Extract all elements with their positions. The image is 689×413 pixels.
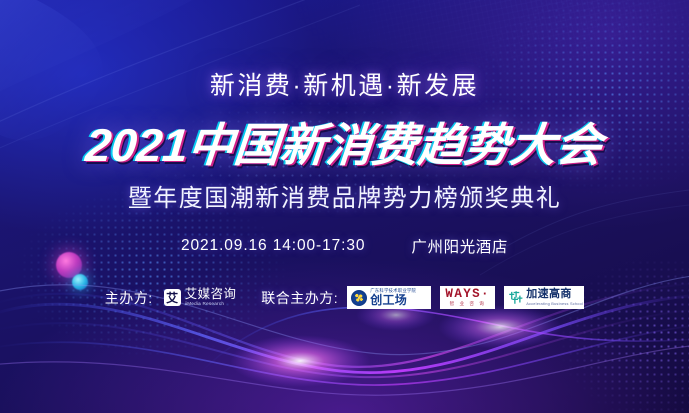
iimedia-text: 艾媒咨询 iiMedia Research	[185, 288, 237, 307]
jiasugaoshang-name-cn: 加速高商	[526, 289, 583, 300]
event-poster: 新消费·新机遇·新发展 2021中国新消费趋势大会 暨年度国潮新消费品牌势力榜颁…	[0, 0, 689, 413]
chuanggongchang-emblem-icon	[351, 290, 367, 306]
event-meta: 2021.09.16 14:00-17:30 广州阳光酒店	[181, 235, 508, 257]
iimedia-name-en: iiMedia Research	[185, 302, 237, 307]
cohost-label: 联合主办方:	[261, 288, 338, 308]
event-datetime: 2021.09.16 14:00-17:30	[181, 237, 365, 255]
subtitle: 暨年度国潮新消费品牌势力榜颁奖典礼	[128, 178, 562, 213]
iimedia-name-cn: 艾媒咨询	[185, 288, 237, 301]
tagline: 新消费·新机遇·新发展	[210, 66, 479, 102]
ways-wordmark: WAYS·	[445, 288, 490, 301]
logo-jiasugaoshang[interactable]: 加速高商 Accelerating Business School	[504, 286, 584, 309]
logo-iimedia[interactable]: 艾 艾媒咨询 iiMedia Research	[164, 288, 237, 307]
main-title-wrap: 2021中国新消费趋势大会	[86, 109, 602, 165]
logo-chuanggongchang[interactable]: 广东科学技术职业学院 创工场	[347, 286, 431, 309]
chuanggongchang-text: 广东科学技术职业学院 创工场	[370, 289, 416, 306]
poster-content: 新消费·新机遇·新发展 2021中国新消费趋势大会 暨年度国潮新消费品牌势力榜颁…	[0, 0, 689, 413]
jiasugaoshang-mark-icon	[508, 290, 523, 305]
host-label: 主办方:	[105, 288, 153, 308]
chuanggongchang-name-cn: 创工场	[370, 294, 416, 306]
jiasugaoshang-text: 加速高商 Accelerating Business School	[526, 289, 583, 305]
event-venue: 广州阳光酒店	[411, 235, 508, 257]
ways-subtext: 智 业 咨 询	[450, 302, 486, 307]
logo-ways[interactable]: WAYS· 智 业 咨 询	[440, 286, 495, 309]
iimedia-mark-icon: 艾	[164, 289, 181, 306]
main-title: 2021中国新消费趋势大会	[83, 109, 605, 175]
sponsor-row: 主办方: 艾 艾媒咨询 iiMedia Research 联合主办方: 广东科学…	[105, 286, 584, 309]
jiasugaoshang-name-en: Accelerating Business School	[526, 302, 583, 306]
